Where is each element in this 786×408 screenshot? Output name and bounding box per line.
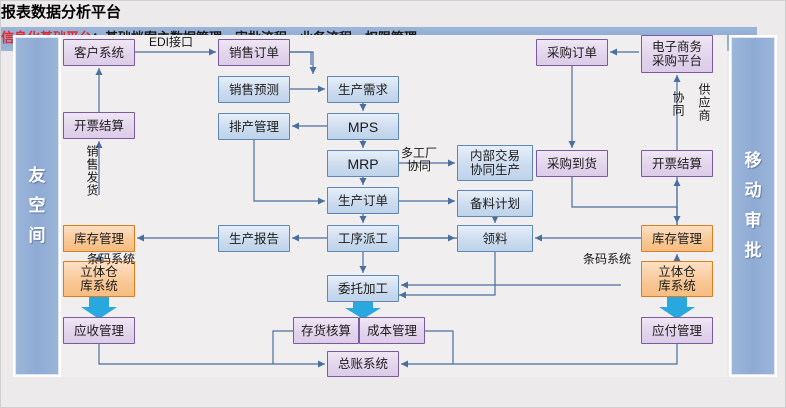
node-customer-system[interactable]: 客户系统 bbox=[63, 39, 135, 66]
sidebar-right-char-2: 审 bbox=[745, 206, 762, 236]
page-title: 报表数据分析平台 bbox=[1, 1, 757, 27]
node-outsourced-processing[interactable]: 委托加工 bbox=[327, 275, 399, 302]
node-sales-forecast[interactable]: 销售预测 bbox=[218, 76, 290, 103]
sidebar-right-char-0: 移 bbox=[745, 146, 762, 176]
caption-collaboration: 协同 bbox=[671, 91, 684, 117]
node-sales-order[interactable]: 销售订单 bbox=[218, 39, 290, 66]
caption-multi-factory-collab: 多工厂 协同 bbox=[401, 147, 437, 173]
node-invoice-settlement-left[interactable]: 开票结算 bbox=[63, 112, 135, 139]
sidebar-right-char-1: 动 bbox=[745, 176, 762, 206]
node-purchase-receipt[interactable]: 采购到货 bbox=[536, 150, 608, 177]
node-mrp[interactable]: MRP bbox=[327, 150, 399, 177]
node-asrs-left[interactable]: 立体仓 库系统 bbox=[63, 261, 135, 297]
node-production-order[interactable]: 生产订单 bbox=[327, 187, 399, 214]
node-purchase-order[interactable]: 采购订单 bbox=[536, 39, 608, 66]
node-material-issue[interactable]: 领料 bbox=[457, 225, 533, 252]
node-production-report[interactable]: 生产报告 bbox=[218, 225, 290, 252]
caption-supplier: 供应商 bbox=[697, 83, 710, 122]
node-payable-mgmt[interactable]: 应付管理 bbox=[641, 317, 713, 344]
node-material-prep-plan[interactable]: 备料计划 bbox=[457, 190, 533, 217]
caption-edi-interface: EDI接口 bbox=[149, 36, 193, 49]
node-process-dispatch[interactable]: 工序派工 bbox=[327, 225, 399, 252]
node-production-demand[interactable]: 生产需求 bbox=[327, 76, 399, 103]
sidebar-left-char-1: 空 bbox=[29, 191, 46, 221]
diagram-root: 报表数据分析平台 友 空 间 移 动 审 批 bbox=[0, 0, 786, 408]
node-asrs-right[interactable]: 立体仓 库系统 bbox=[641, 261, 713, 297]
node-production-plan-mgmt[interactable]: 排产管理 bbox=[218, 113, 290, 140]
node-inventory-mgmt-right[interactable]: 库存管理 bbox=[641, 225, 713, 252]
caption-barcode-system-right: 条码系统 bbox=[583, 253, 631, 266]
node-general-ledger[interactable]: 总账系统 bbox=[327, 351, 399, 377]
sidebar-right-char-3: 批 bbox=[745, 236, 762, 266]
node-inventory-mgmt-left[interactable]: 库存管理 bbox=[63, 225, 135, 252]
node-internal-trade-production[interactable]: 内部交易 协同生产 bbox=[457, 145, 533, 181]
sidebar-right-mobile-approval[interactable]: 移 动 审 批 bbox=[731, 37, 775, 375]
sidebar-left-youkongjian[interactable]: 友 空 间 bbox=[15, 37, 59, 375]
caption-barcode-system-left: 条码系统 bbox=[87, 253, 135, 266]
flowchart-canvas: 客户系统 开票结算 销售订单 销售预测 排产管理 生产需求 MPS MRP 生产… bbox=[61, 35, 727, 377]
node-cost-mgmt[interactable]: 成本管理 bbox=[359, 317, 425, 344]
node-inventory-accounting[interactable]: 存货核算 bbox=[293, 317, 359, 344]
node-receivable-mgmt[interactable]: 应收管理 bbox=[63, 317, 135, 344]
sidebar-left-char-0: 友 bbox=[29, 161, 46, 191]
node-invoice-settlement-right[interactable]: 开票结算 bbox=[641, 150, 713, 177]
node-ecommerce-platform[interactable]: 电子商务 采购平台 bbox=[641, 35, 713, 73]
sidebar-left-char-2: 间 bbox=[29, 221, 46, 251]
node-mps[interactable]: MPS bbox=[327, 113, 399, 140]
caption-sales-shipment: 销售发货 bbox=[85, 145, 98, 197]
